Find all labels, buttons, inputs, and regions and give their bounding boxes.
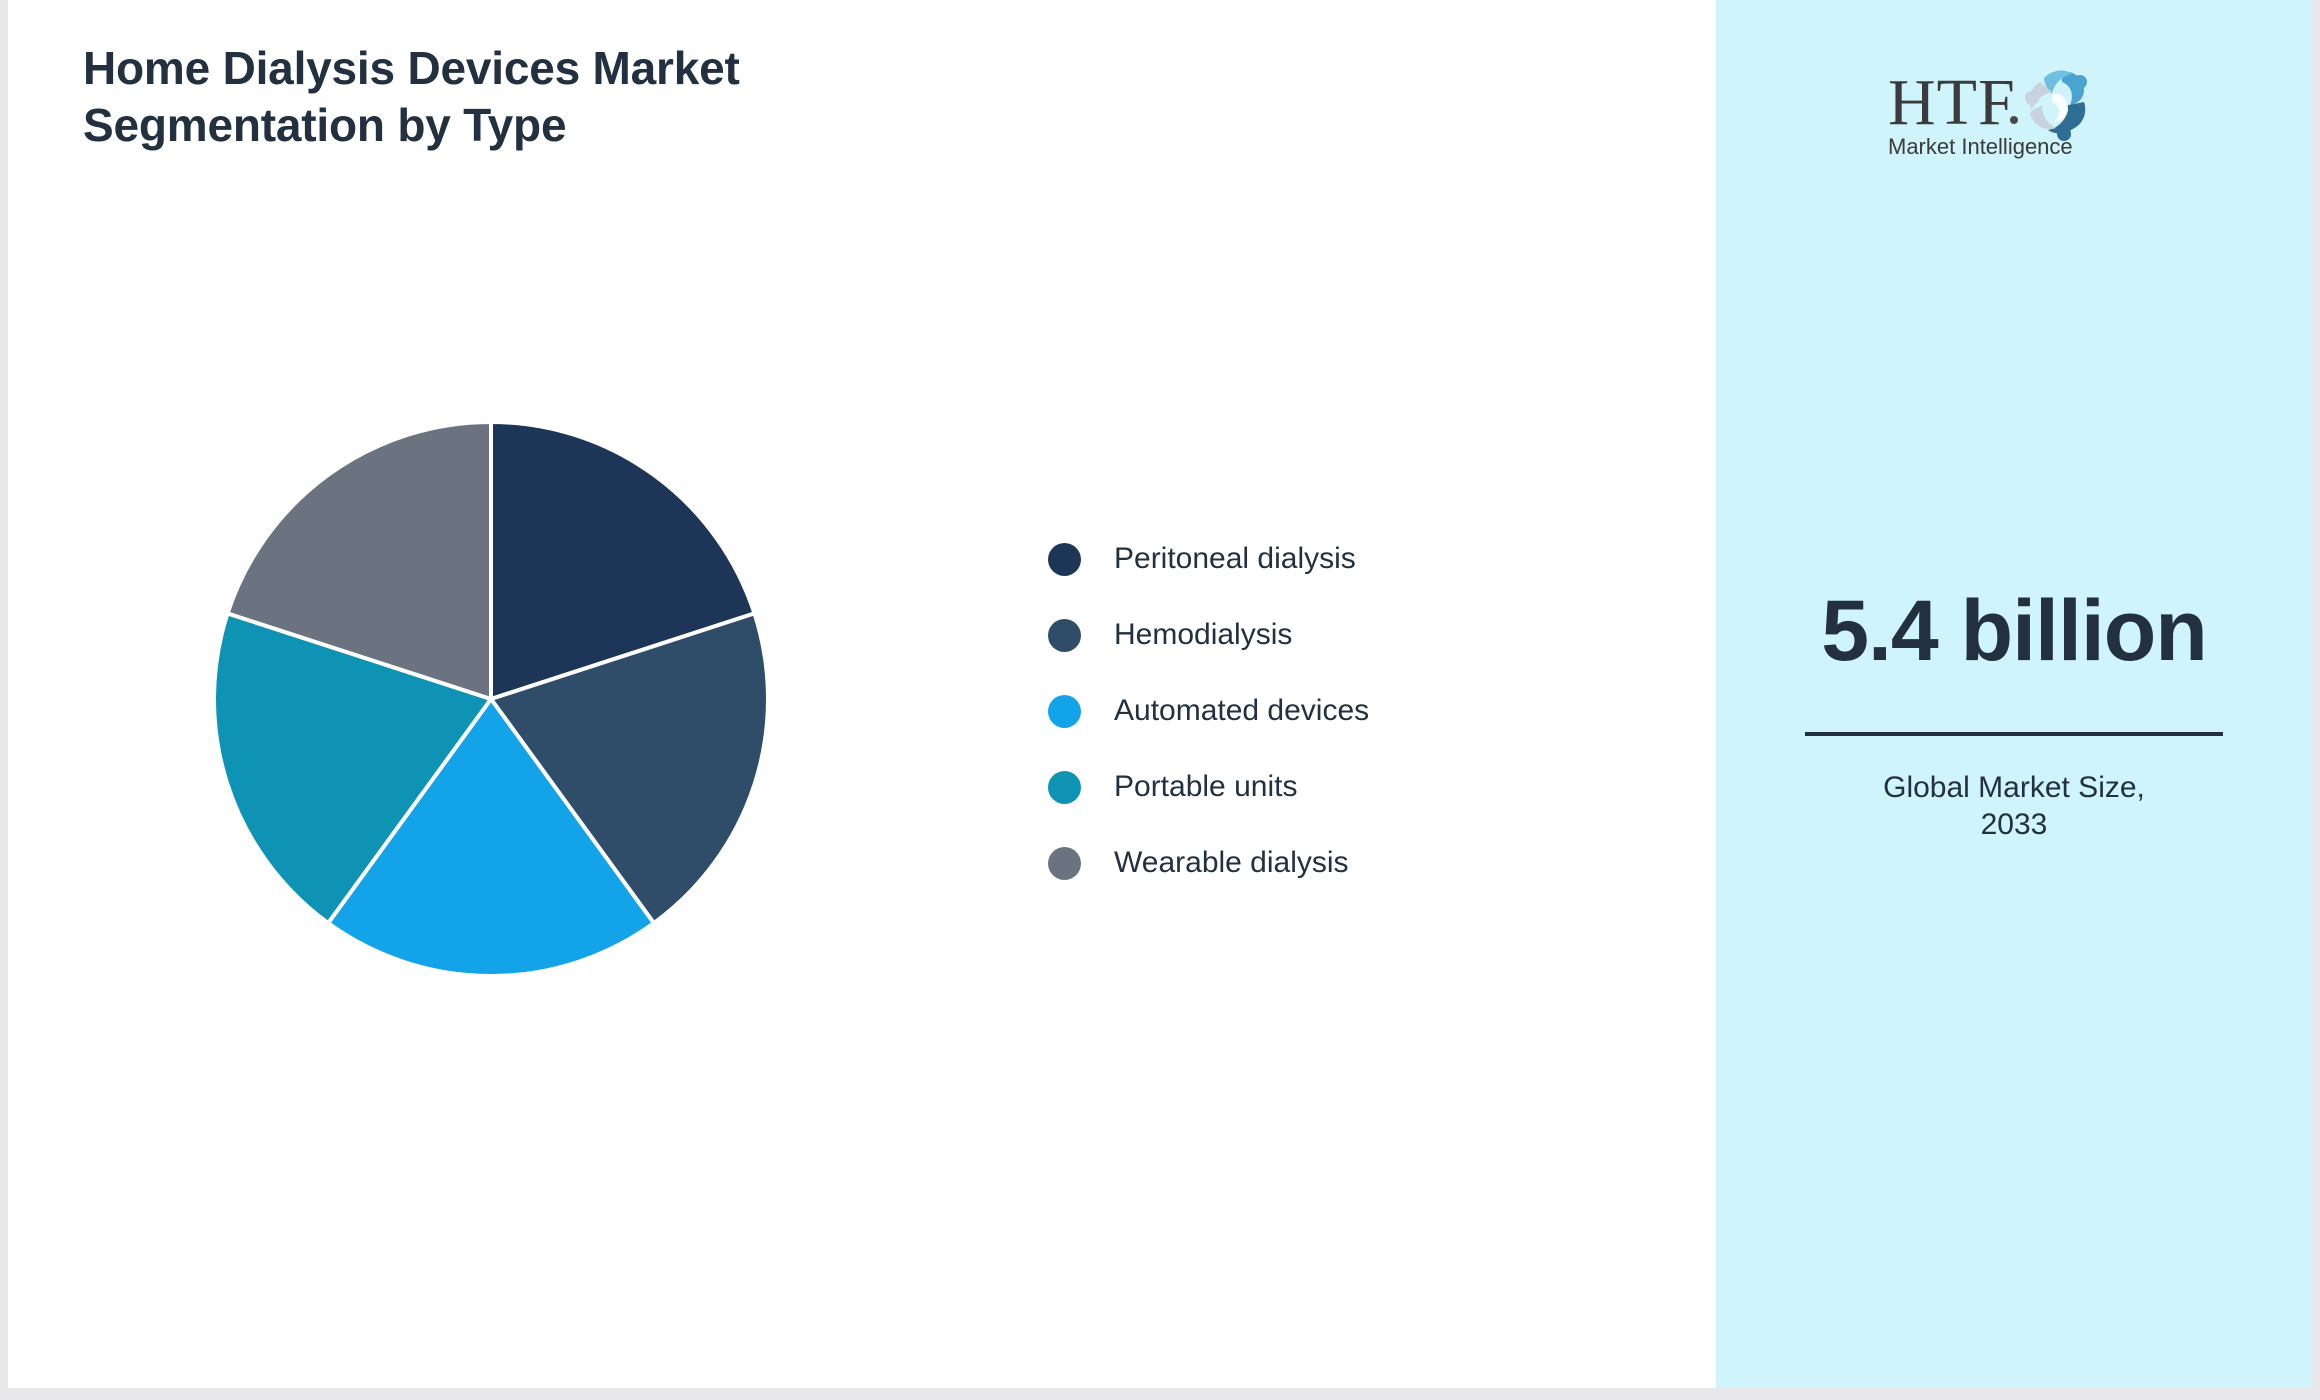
sidebar: HTF xyxy=(1716,0,2312,1388)
legend-item-label: Automated devices xyxy=(1114,694,1369,728)
legend-item-automated-devices[interactable]: Automated devices xyxy=(1048,673,1498,749)
stat-caption: Global Market Size, 2033 xyxy=(1716,770,2312,843)
page-title: Home Dialysis Devices Market Segmentatio… xyxy=(83,40,1063,154)
legend-item-peritoneal-dialysis[interactable]: Peritoneal dialysis xyxy=(1048,521,1498,597)
legend-swatch-icon xyxy=(1048,695,1081,728)
chart-panel: Home Dialysis Devices Market Segmentatio… xyxy=(8,0,1716,1388)
legend-item-label: Peritoneal dialysis xyxy=(1114,542,1356,576)
legend-item-portable-units[interactable]: Portable units xyxy=(1048,749,1498,825)
htf-logo[interactable]: HTF xyxy=(1716,62,2312,162)
legend-item-wearable-dialysis[interactable]: Wearable dialysis xyxy=(1048,825,1498,901)
legend-swatch-icon xyxy=(1048,771,1081,804)
pie-slice-group: Peritoneal dialysis — 20%Hemodialysis — … xyxy=(214,422,768,976)
legend-item-hemodialysis[interactable]: Hemodialysis xyxy=(1048,597,1498,673)
htf-logo-icon: HTF xyxy=(1884,62,2144,162)
svg-text:HTF: HTF xyxy=(1888,66,2016,139)
stat-divider xyxy=(1805,732,2223,736)
infographic-root: Home Dialysis Devices Market Segmentatio… xyxy=(0,0,2320,1400)
svg-text:Market Intelligence: Market Intelligence xyxy=(1888,134,2073,159)
legend-item-label: Hemodialysis xyxy=(1114,618,1292,652)
legend-swatch-icon xyxy=(1048,543,1081,576)
legend-swatch-icon xyxy=(1048,847,1081,880)
market-size-stat: 5.4 billion Global Market Size, 2033 xyxy=(1716,588,2312,843)
pie-chart-svg: Peritoneal dialysis — 20%Hemodialysis — … xyxy=(213,421,769,977)
legend-swatch-icon xyxy=(1048,619,1081,652)
pie-chart: Peritoneal dialysis — 20%Hemodialysis — … xyxy=(213,421,769,977)
stat-value: 5.4 billion xyxy=(1716,588,2312,674)
chart-legend: Peritoneal dialysis Hemodialysis Automat… xyxy=(1048,521,1498,901)
legend-item-label: Wearable dialysis xyxy=(1114,846,1349,880)
legend-item-label: Portable units xyxy=(1114,770,1297,804)
